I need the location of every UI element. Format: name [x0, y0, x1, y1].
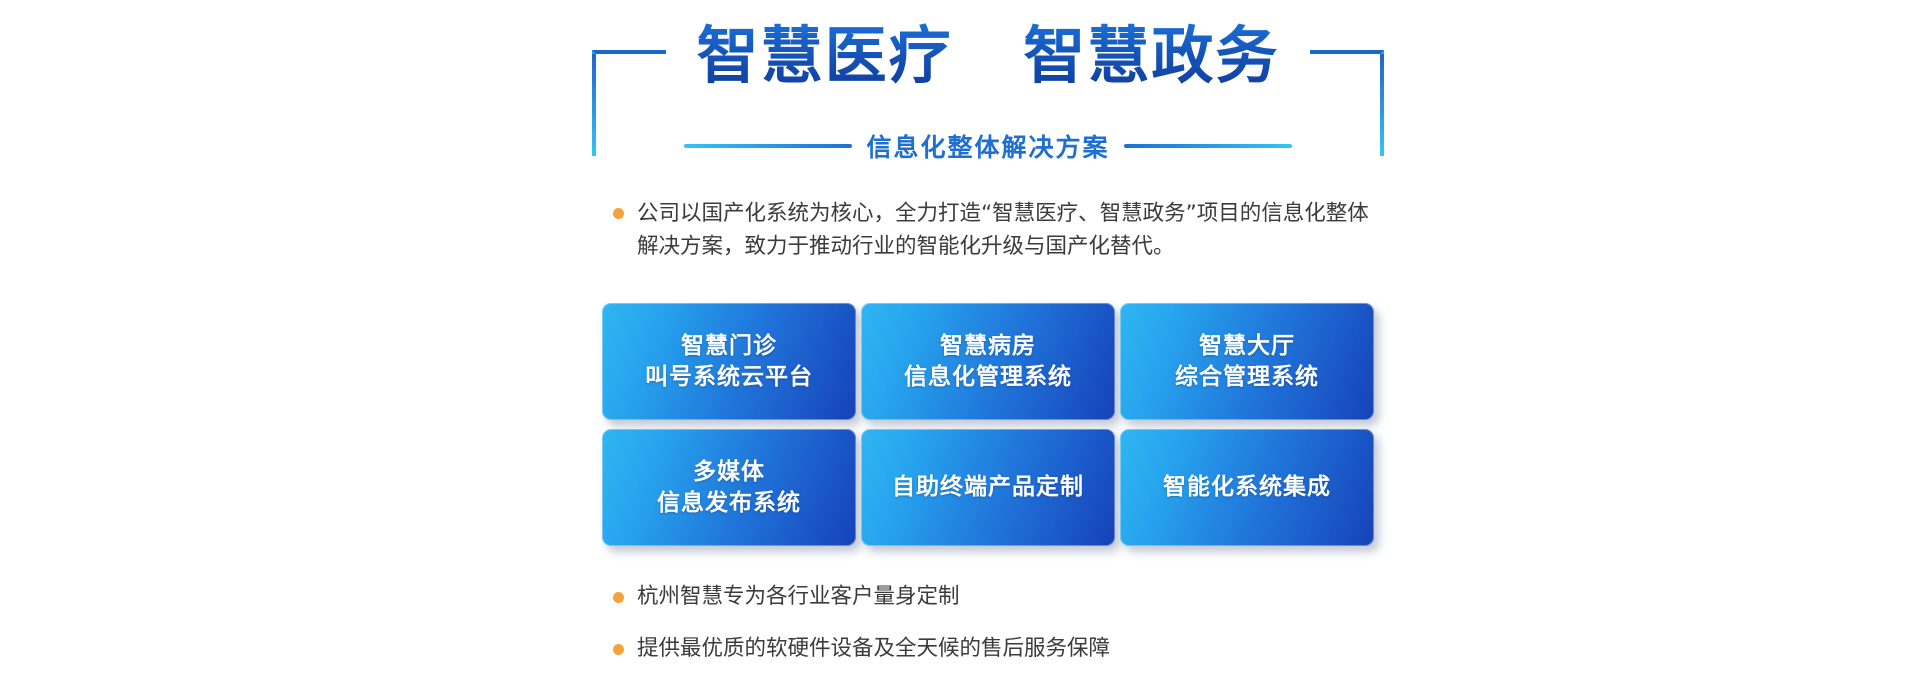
subtitle-rule-right — [1124, 144, 1292, 148]
solution-card-label: 智慧门诊 叫号系统云平台 — [645, 331, 813, 392]
title-block: 智慧医疗 智慧政务 信息化整体解决方案 — [588, 0, 1388, 168]
solution-card-label: 自助终端产品定制 — [892, 472, 1084, 503]
list-item: 杭州智慧专为各行业客户量身定制 — [613, 582, 1373, 612]
page-subtitle: 信息化整体解决方案 — [866, 128, 1109, 164]
solution-card-label: 多媒体 信息发布系统 — [657, 457, 801, 518]
solution-card[interactable]: 智慧大厅 综合管理系统 — [1120, 303, 1374, 420]
page-title: 智慧医疗 智慧政务 — [588, 22, 1388, 90]
bullet-dot-icon — [613, 592, 624, 603]
solution-card-grid: 智慧门诊 叫号系统云平台 智慧病房 信息化管理系统 智慧大厅 综合管理系统 多媒… — [602, 303, 1374, 546]
bullet-dot-icon — [613, 644, 624, 655]
banner-stage: 智慧医疗 智慧政务 信息化整体解决方案 公司以国产化系统为核心，全力打造“智慧医… — [0, 0, 1920, 680]
bullet-text: 杭州智慧专为各行业客户量身定制 — [637, 582, 960, 612]
solution-card-label: 智慧病房 信息化管理系统 — [904, 331, 1072, 392]
solution-card[interactable]: 智慧病房 信息化管理系统 — [861, 303, 1115, 420]
content-column: 智慧医疗 智慧政务 信息化整体解决方案 公司以国产化系统为核心，全力打造“智慧医… — [588, 0, 1388, 680]
bullet-text: 提供最优质的软硬件设备及全天候的售后服务保障 — [637, 634, 1110, 664]
solution-card-label: 智慧大厅 综合管理系统 — [1175, 331, 1319, 392]
solution-card-label: 智能化系统集成 — [1163, 472, 1331, 503]
solution-card[interactable]: 多媒体 信息发布系统 — [602, 429, 856, 546]
subtitle-rule-left — [684, 144, 852, 148]
bullet-dot-icon — [613, 208, 624, 219]
list-item: 提供最优质的软硬件设备及全天候的售后服务保障 — [613, 634, 1373, 664]
feature-bullet-list: 杭州智慧专为各行业客户量身定制 提供最优质的软硬件设备及全天候的售后服务保障 — [613, 582, 1373, 686]
intro-text: 公司以国产化系统为核心，全力打造“智慧医疗、智慧政务”项目的信息化整体解决方案，… — [637, 198, 1373, 263]
intro-paragraph: 公司以国产化系统为核心，全力打造“智慧医疗、智慧政务”项目的信息化整体解决方案，… — [613, 198, 1373, 263]
solution-card[interactable]: 自助终端产品定制 — [861, 429, 1115, 546]
subtitle-row: 信息化整体解决方案 — [588, 128, 1388, 164]
solution-card[interactable]: 智慧门诊 叫号系统云平台 — [602, 303, 856, 420]
solution-card[interactable]: 智能化系统集成 — [1120, 429, 1374, 546]
